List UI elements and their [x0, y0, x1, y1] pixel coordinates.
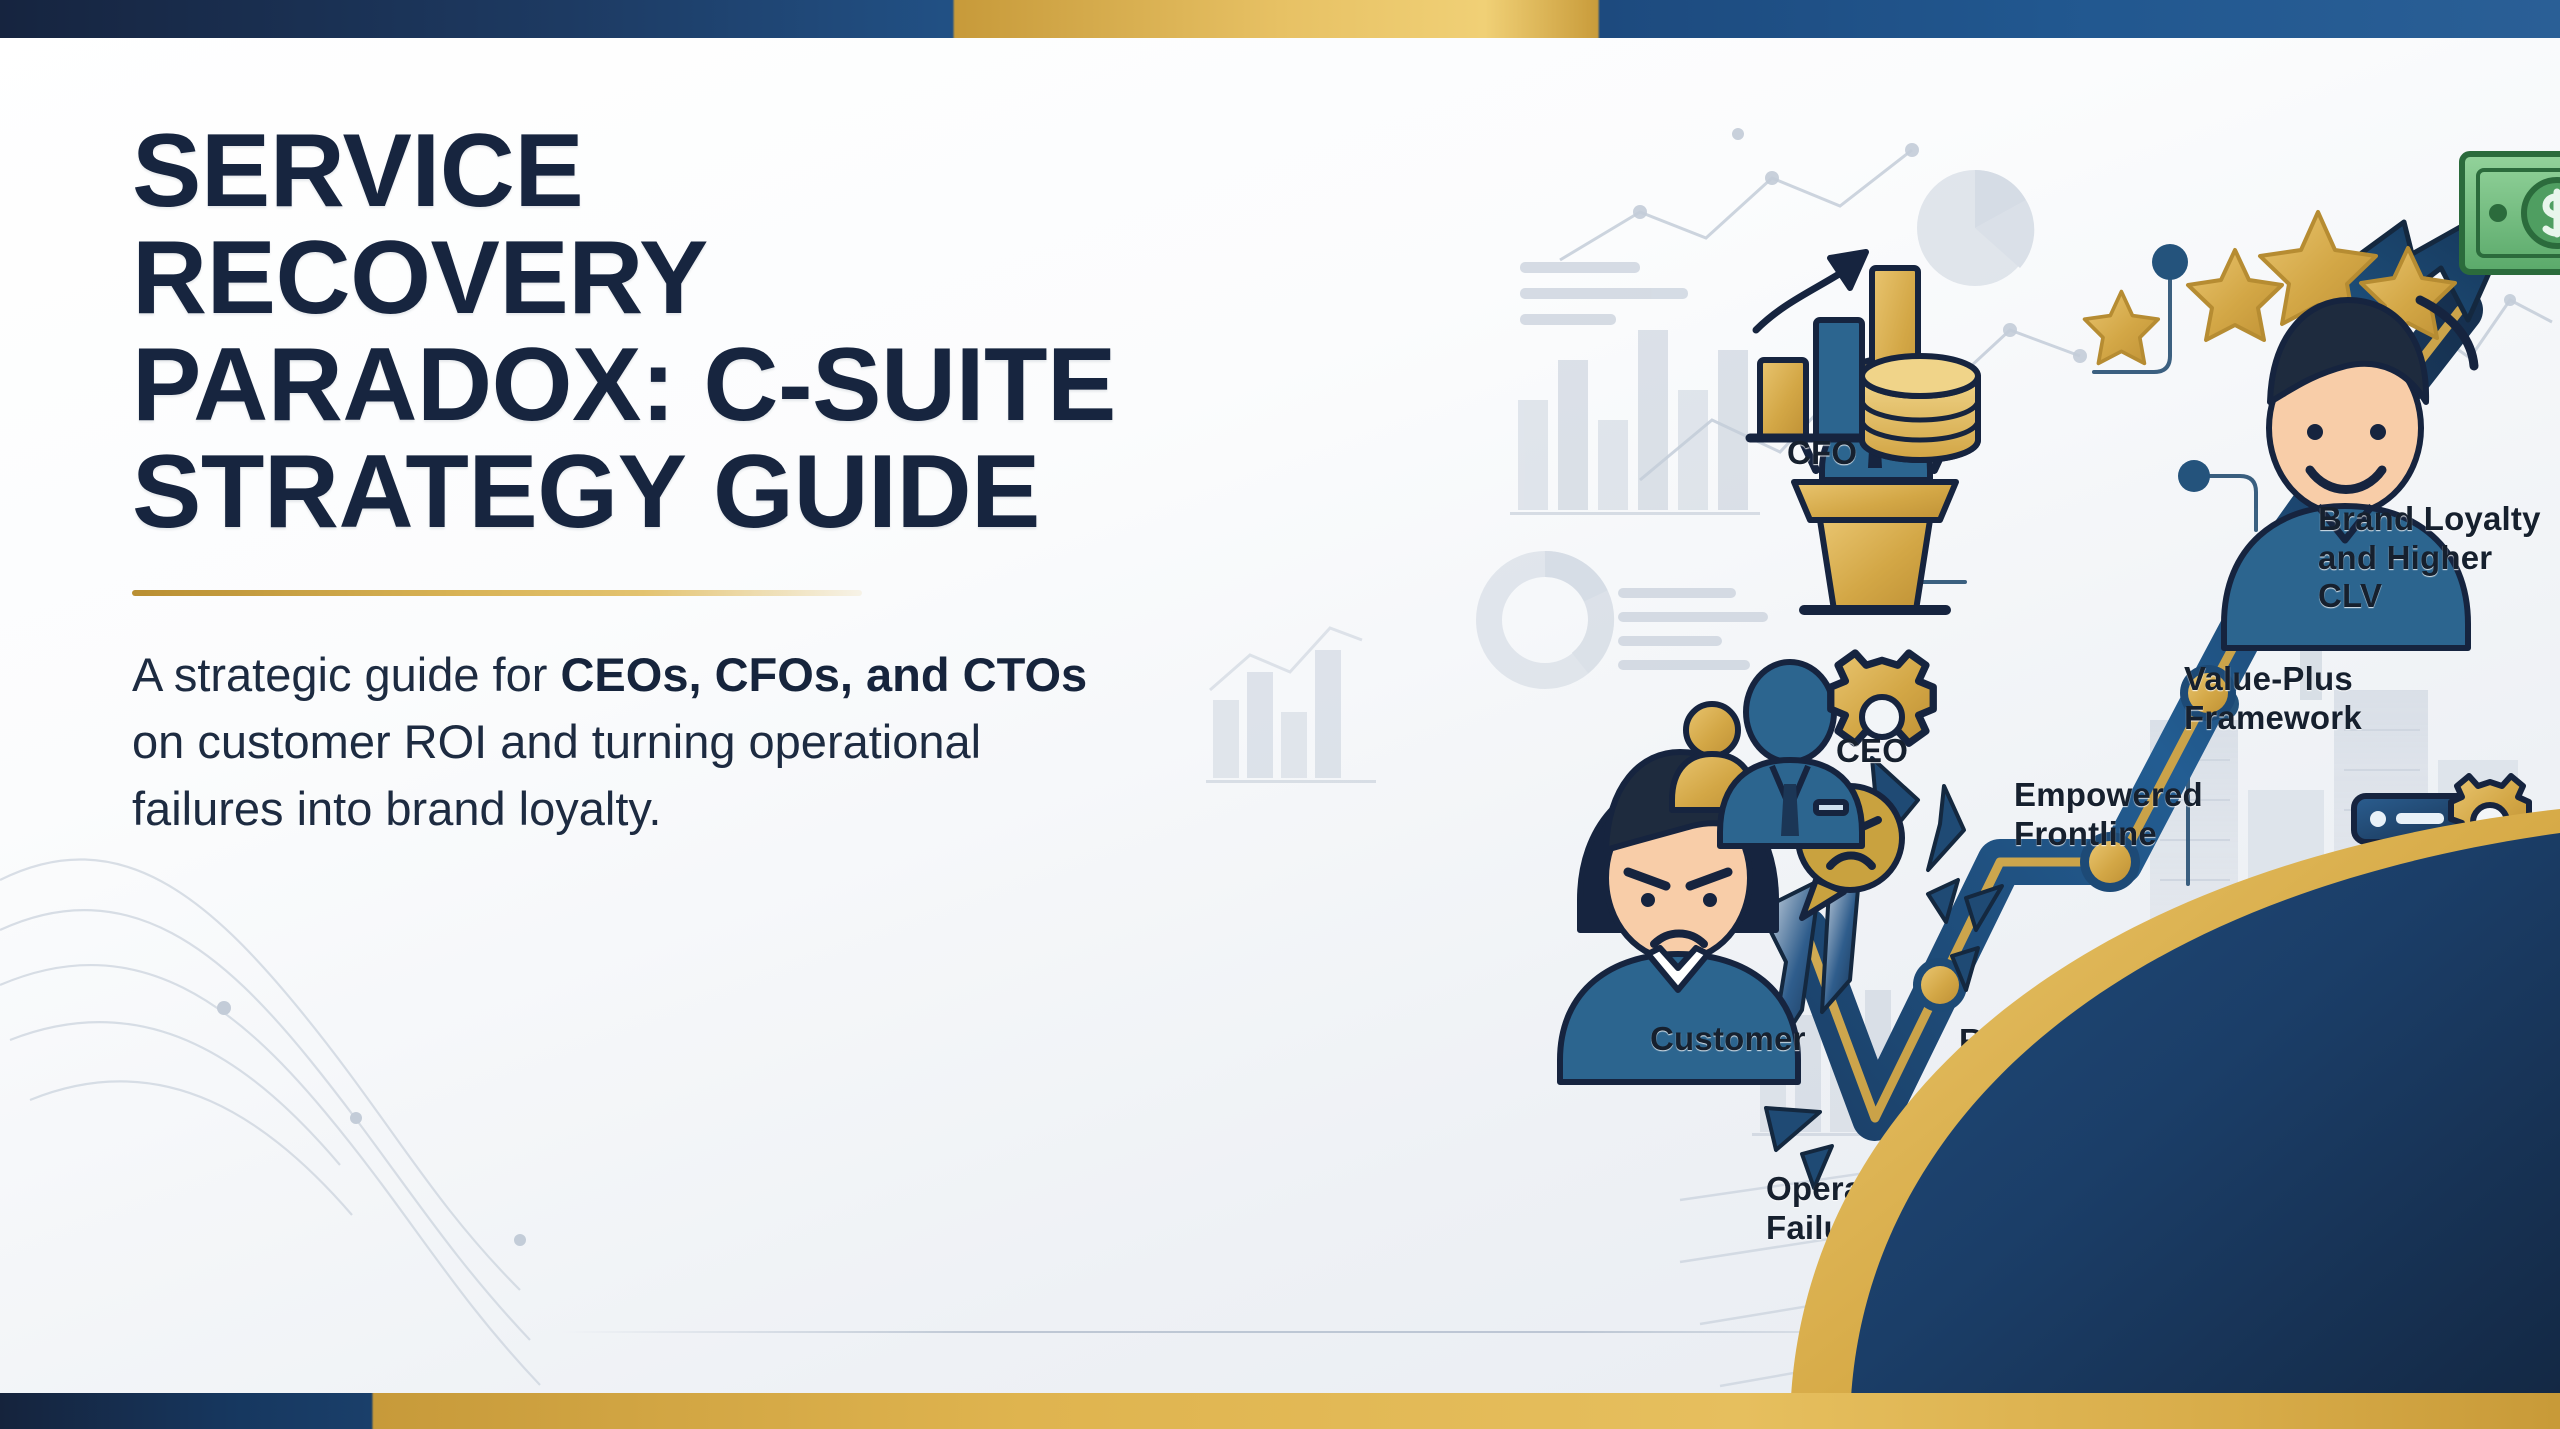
bar-chart-coins-icon [1750, 252, 1978, 460]
label-value-plus-framework: Value-Plus Framework [2184, 660, 2362, 737]
subtitle-bold-1: CEOs, CFOs, [560, 648, 853, 701]
bottom-frame-bar [0, 1393, 2560, 1429]
label-cfo: CFO [1787, 434, 1857, 473]
corner-swoosh-svg [1700, 809, 2560, 1429]
dollar-bill-icon [2462, 154, 2560, 272]
swirl-lines-icon [0, 859, 540, 1385]
subtitle-part-1: A strategic guide for [132, 648, 560, 701]
subtitle-part-3: on customer ROI and turning operational … [132, 715, 981, 835]
dot-node-icon [350, 1112, 362, 1124]
dot-node-icon [217, 1001, 231, 1015]
label-brand-loyalty: Brand Loyalty and Higher CLV [2318, 500, 2560, 616]
label-ceo: CEO [1836, 732, 1908, 771]
corner-swoosh [1700, 809, 2560, 1429]
text-column: Service Recovery Paradox: C-Suite Strate… [132, 118, 1132, 843]
dot-node-icon [514, 1234, 526, 1246]
page-subtitle: A strategic guide for CEOs, CFOs, and CT… [132, 642, 1112, 842]
top-frame-bar [0, 0, 2560, 38]
page-title: Service Recovery Paradox: C-Suite Strate… [132, 118, 1132, 546]
subtitle-space [853, 648, 866, 701]
gold-divider-rule [132, 590, 862, 596]
subtitle-bold-2: and CTOs [866, 648, 1087, 701]
infographic-poster: Service Recovery Paradox: C-Suite Strate… [0, 0, 2560, 1429]
